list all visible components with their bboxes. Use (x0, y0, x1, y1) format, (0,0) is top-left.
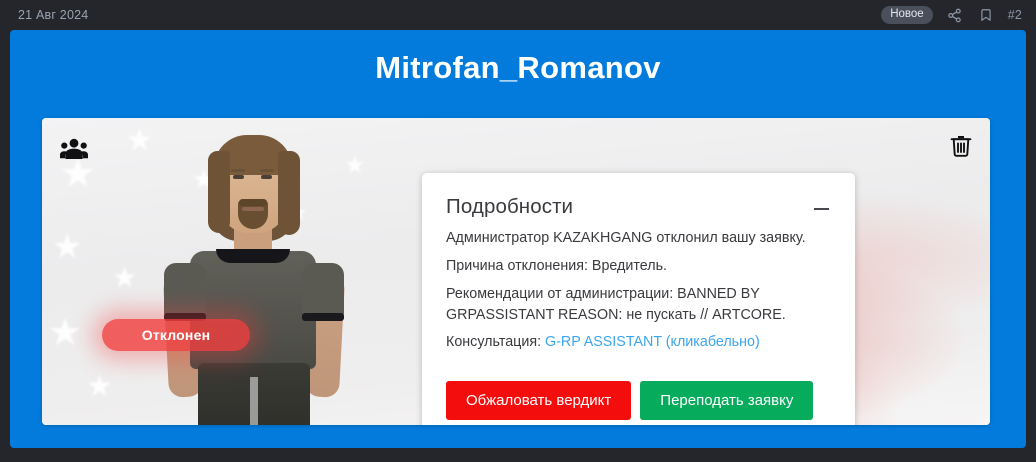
character-render (138, 125, 368, 425)
details-line-consultation: Консультация: G-RP ASSISTANT (кликабельн… (446, 332, 831, 353)
appeal-verdict-button[interactable]: Обжаловать вердикт (446, 381, 631, 420)
details-panel: Подробности Администратор KAZAKHGANG отк… (422, 173, 855, 425)
flag-star: ★ (112, 264, 137, 292)
flag-star: ★ (52, 230, 82, 264)
details-line-recommendation: Рекомендации от администрации: BANNED BY… (446, 284, 831, 326)
flag-star: ★ (48, 314, 82, 352)
flag-star: ★ (60, 154, 96, 194)
status-badge-new: Новое (881, 6, 932, 25)
trash-icon[interactable] (950, 134, 972, 158)
bookmark-icon[interactable] (977, 6, 995, 24)
consultation-link[interactable]: G-RP ASSISTANT (кликабельно) (545, 334, 760, 350)
details-line-reason: Причина отклонения: Вредитель. (446, 256, 831, 277)
users-group-icon[interactable] (60, 138, 88, 160)
post-number[interactable]: #2 (1008, 8, 1022, 22)
page-title: Mitrofan_Romanov (10, 30, 1026, 86)
details-actions: Обжаловать вердикт Переподать заявку (446, 381, 831, 420)
details-line-admin: Администратор KAZAKHGANG отклонил вашу з… (446, 228, 831, 249)
details-title: Подробности (446, 195, 573, 219)
details-header: Подробности (446, 195, 831, 219)
post-date: 21 Авг 2024 (18, 8, 88, 22)
flag-star: ★ (86, 372, 113, 402)
top-bar-actions: Новое #2 (881, 6, 1022, 25)
top-bar: 21 Авг 2024 Новое #2 (0, 0, 1036, 30)
character-card: ★ ★ ★ ★ ★ ★ ★ ★ ★ ★ ★ ★ ★ ★ (42, 118, 990, 425)
share-icon[interactable] (946, 6, 964, 24)
minimize-icon[interactable] (811, 199, 831, 219)
consultation-label: Консультация: (446, 334, 545, 350)
resubmit-application-button[interactable]: Переподать заявку (640, 381, 813, 420)
application-panel: Mitrofan_Romanov ★ ★ ★ ★ ★ ★ ★ ★ ★ ★ ★ ★… (10, 30, 1026, 448)
status-badge: Отклонен (102, 319, 250, 351)
